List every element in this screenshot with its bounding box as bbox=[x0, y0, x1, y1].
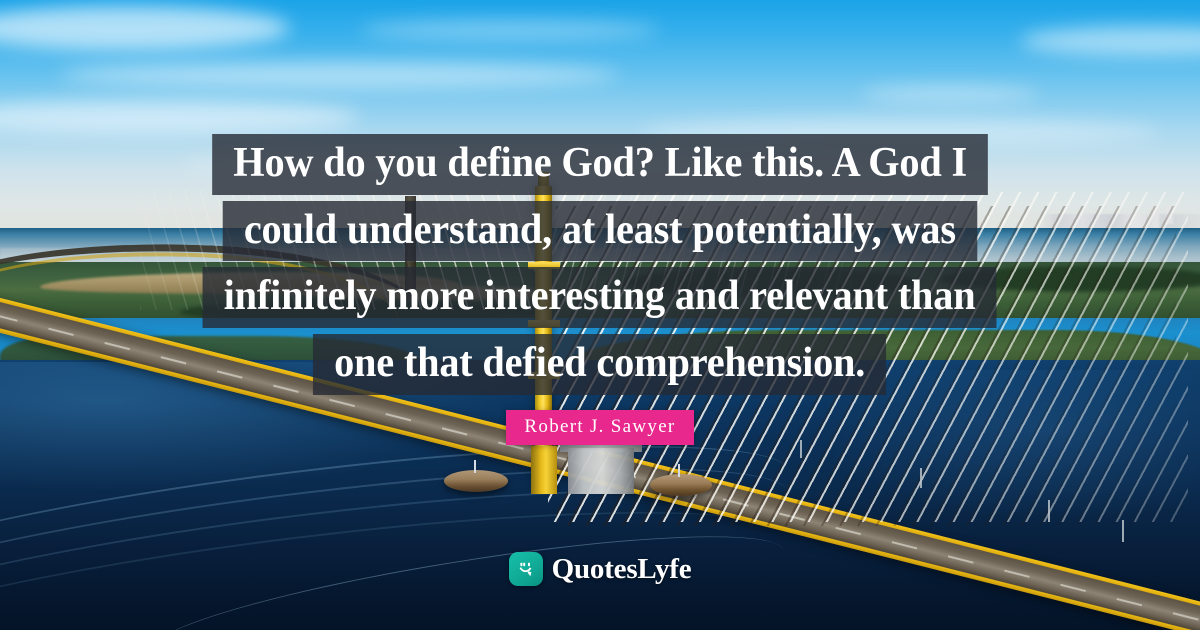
protective-dolphin bbox=[444, 470, 508, 492]
quote-line: infinitely more interesting and relevant… bbox=[0, 267, 1200, 328]
protective-dolphin bbox=[650, 474, 712, 496]
quote-line-text: infinitely more interesting and relevant… bbox=[203, 267, 997, 328]
quote-smiley-icon bbox=[509, 552, 543, 586]
pier-foundation bbox=[568, 448, 634, 494]
quote-line-text: one that defied comprehension. bbox=[313, 334, 886, 395]
author-name: Robert J. Sawyer bbox=[506, 410, 693, 445]
pylon-base bbox=[531, 446, 557, 494]
brand-name: QuotesLyfe bbox=[552, 555, 692, 584]
light-pole bbox=[920, 468, 922, 488]
light-pole bbox=[1048, 500, 1050, 522]
quote-line: could understand, at least potentially, … bbox=[0, 201, 1200, 262]
quote-line: How do you define God? Like this. A God … bbox=[0, 134, 1200, 195]
dolphin-mast bbox=[474, 460, 476, 473]
quote-card: How do you define God? Like this. A God … bbox=[0, 0, 1200, 630]
quote-line-text: could understand, at least potentially, … bbox=[223, 201, 977, 262]
brand-logo[interactable]: QuotesLyfe bbox=[0, 552, 1200, 586]
light-pole bbox=[1122, 520, 1124, 542]
quote-text: How do you define God? Like this. A God … bbox=[0, 134, 1200, 401]
quote-line-text: How do you define God? Like this. A God … bbox=[212, 134, 988, 195]
quote-line: one that defied comprehension. bbox=[0, 334, 1200, 395]
dolphin-mast bbox=[678, 464, 680, 477]
author-attribution: Robert J. Sawyer bbox=[0, 410, 1200, 445]
